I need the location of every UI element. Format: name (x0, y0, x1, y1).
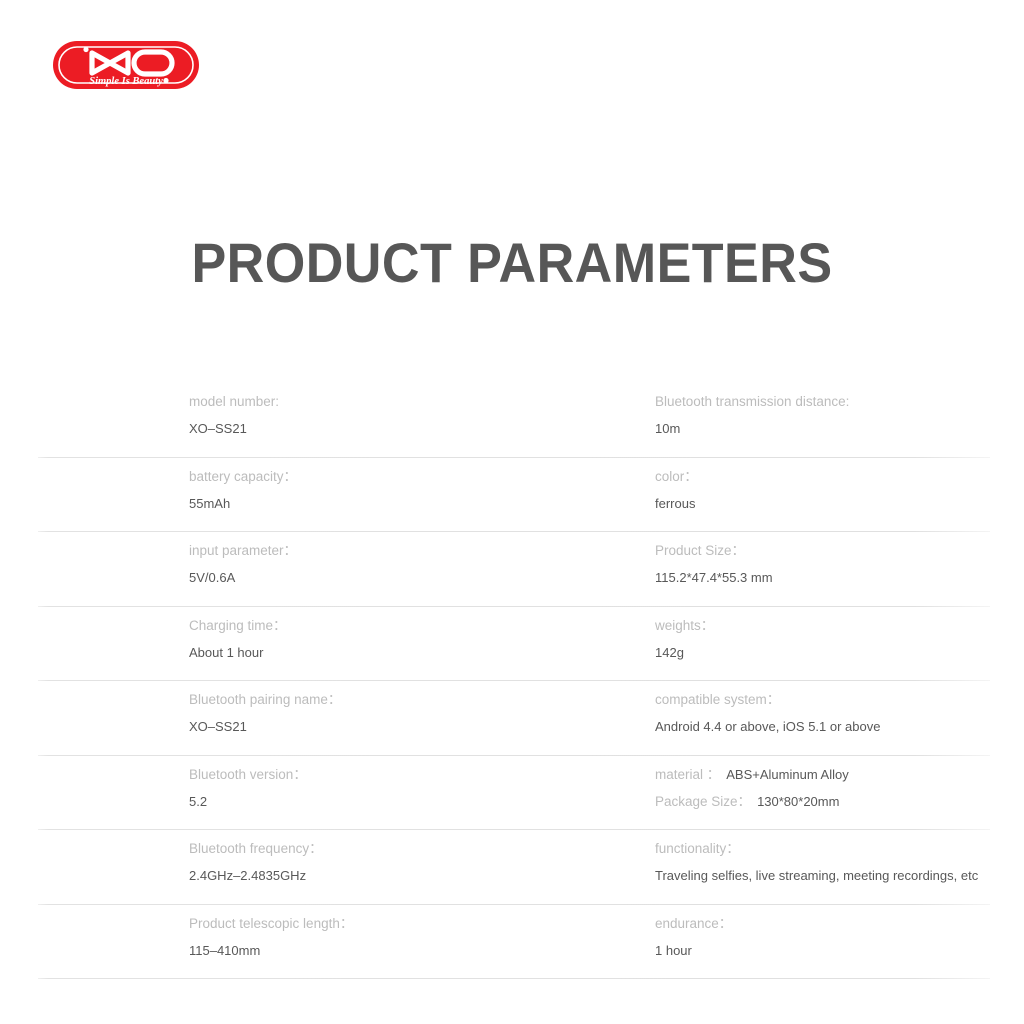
spec-value: ABS+Aluminum Alloy (726, 767, 848, 782)
spec-label: Bluetooth transmission distance: (655, 393, 1000, 411)
table-row: Bluetooth version：5.2material ：ABS+Alumi… (0, 756, 1024, 831)
spec-value: 115–410mm (189, 942, 629, 960)
spec-value: 130*80*20mm (757, 794, 839, 809)
table-row: Bluetooth pairing name：XO–SS21compatible… (0, 681, 1024, 756)
spec-value: 55mAh (189, 495, 629, 513)
table-row: Bluetooth frequency：2.4GHz–2.4835GHzfunc… (0, 830, 1024, 905)
spec-cell-left: Product telescopic length：115–410mm (189, 905, 629, 960)
spec-label: input parameter： (189, 542, 629, 560)
spec-value: 5.2 (189, 793, 629, 811)
table-row: Charging time：About 1 hourweights：142g (0, 607, 1024, 682)
spec-value: About 1 hour (189, 644, 629, 662)
spec-label: Bluetooth frequency： (189, 840, 629, 858)
spec-value: Traveling selfies, live streaming, meeti… (655, 867, 1000, 885)
xo-logo-graphic: Simple Is Beauty (52, 38, 200, 92)
spec-cell-left: Bluetooth frequency：2.4GHz–2.4835GHz (189, 830, 629, 885)
spec-cell-left: model number:XO–SS21 (189, 383, 629, 438)
table-row: input parameter：5V/0.6AProduct Size：115.… (0, 532, 1024, 607)
spec-cell-left: Charging time：About 1 hour (189, 607, 629, 662)
spec-cell-right: compatible system：Android 4.4 or above, … (655, 681, 1000, 736)
spec-label: functionality： (655, 840, 1000, 858)
spec-cell-right: Product Size：115.2*47.4*55.3 mm (655, 532, 1000, 587)
spec-table: model number:XO–SS21Bluetooth transmissi… (0, 383, 1024, 979)
spec-value: 115.2*47.4*55.3 mm (655, 569, 1000, 587)
spec-cell-left: battery capacity：55mAh (189, 458, 629, 513)
spec-value: 1 hour (655, 942, 1000, 960)
xo-logo: Simple Is Beauty (52, 38, 200, 92)
page-title: PRODUCT PARAMETERS (36, 229, 988, 297)
spec-value: XO–SS21 (189, 718, 629, 736)
spec-label: color： (655, 468, 1000, 486)
spec-label: Bluetooth version： (189, 766, 629, 784)
spec-label: Product telescopic length： (189, 915, 629, 933)
spec-value: XO–SS21 (189, 420, 629, 438)
spec-inline-line-2: Package Size：130*80*20mm (655, 793, 1000, 811)
spec-cell-right: functionality：Traveling selfies, live st… (655, 830, 1000, 885)
spec-cell-right: material ：ABS+Aluminum AlloyPackage Size… (655, 756, 1000, 811)
table-row: model number:XO–SS21Bluetooth transmissi… (0, 383, 1024, 458)
spec-cell-left: Bluetooth pairing name：XO–SS21 (189, 681, 629, 736)
spec-cell-left: input parameter：5V/0.6A (189, 532, 629, 587)
spec-inline-line-1: material ：ABS+Aluminum Alloy (655, 766, 1000, 784)
spec-value: 10m (655, 420, 1000, 438)
spec-label: Bluetooth pairing name： (189, 691, 629, 709)
spec-value: Android 4.4 or above, iOS 5.1 or above (655, 718, 1000, 736)
spec-cell-right: endurance：1 hour (655, 905, 1000, 960)
spec-label: Product Size： (655, 542, 1000, 560)
logo-tagline: Simple Is Beauty (89, 76, 163, 87)
table-row: Product telescopic length：115–410mmendur… (0, 905, 1024, 980)
table-row: battery capacity：55mAhcolor：ferrous (0, 458, 1024, 533)
row-divider (38, 978, 990, 979)
spec-cell-right: color：ferrous (655, 458, 1000, 513)
spec-label: material ： (655, 767, 720, 782)
spec-value: 142g (655, 644, 1000, 662)
spec-value: 5V/0.6A (189, 569, 629, 587)
spec-cell-right: weights：142g (655, 607, 1000, 662)
spec-cell-right: Bluetooth transmission distance:10m (655, 383, 1000, 438)
spec-label: compatible system： (655, 691, 1000, 709)
spec-cell-left: Bluetooth version：5.2 (189, 756, 629, 811)
spec-label: weights： (655, 617, 1000, 635)
spec-label: endurance： (655, 915, 1000, 933)
spec-label: battery capacity： (189, 468, 629, 486)
spec-label: model number: (189, 393, 629, 411)
spec-value: 2.4GHz–2.4835GHz (189, 867, 629, 885)
spec-label: Package Size： (655, 794, 751, 809)
spec-label: Charging time： (189, 617, 629, 635)
spec-value: ferrous (655, 495, 1000, 513)
